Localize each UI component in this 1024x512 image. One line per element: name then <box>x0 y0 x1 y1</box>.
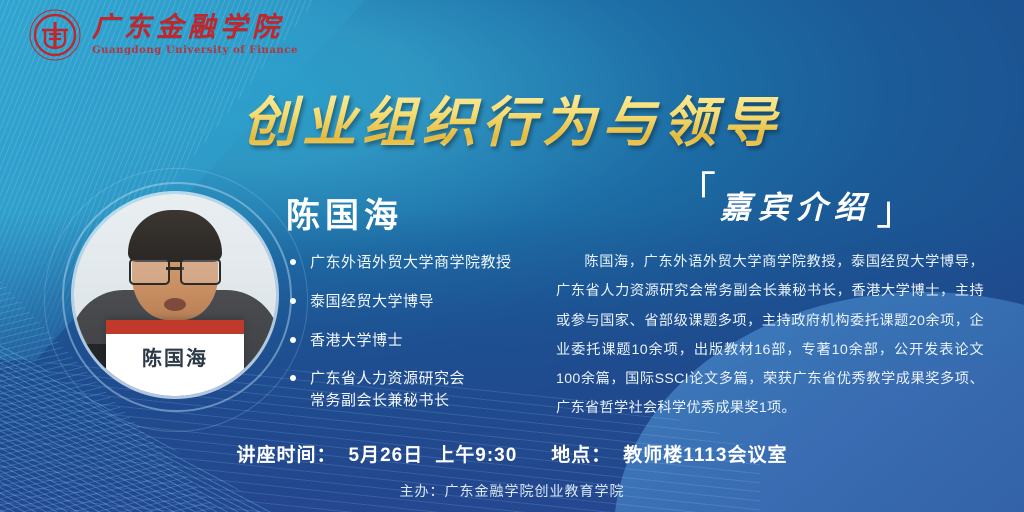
guest-intro-heading: 「 嘉宾介绍 」 <box>676 176 916 227</box>
list-item: 香港大学博士 <box>288 330 558 352</box>
bracket-close-icon: 」 <box>876 195 916 227</box>
host-organization: 主办：广东金融学院创业教育学院 <box>0 481 1024 501</box>
university-name-en: Guangdong University of Finance <box>92 46 298 56</box>
university-logo: 广东金融学院 Guangdong University of Finance <box>28 8 298 62</box>
place-value: 教师楼1113会议室 <box>623 445 787 466</box>
speaker-photo: 陈国海 <box>74 194 276 396</box>
list-item: 泰国经贸大学博导 <box>288 291 558 313</box>
guest-intro-heading-text: 嘉宾介绍 <box>716 176 876 227</box>
photo-nameplate-text: 陈国海 <box>106 342 244 371</box>
list-item: 广东外语外贸大学商学院教授 <box>288 252 558 274</box>
list-item: 广东省人力资源研究会 常务副会长兼秘书长 <box>288 368 558 412</box>
photo-glasses <box>129 258 221 282</box>
university-emblem-icon <box>28 8 82 62</box>
event-poster: 广东金融学院 Guangdong University of Finance 创… <box>0 0 1024 512</box>
speaker-name: 陈国海 <box>286 188 403 237</box>
time-value-date: 5月26日 <box>349 445 424 466</box>
poster-title: 创业组织行为与领导 <box>0 78 1024 157</box>
event-info-line: 讲座时间：5月26日上午9:30地点：教师楼1113会议室 <box>0 440 1024 467</box>
photo-nameplate: 陈国海 <box>106 320 244 396</box>
photo-mouth <box>164 298 186 311</box>
time-value-hour: 上午9:30 <box>435 445 517 466</box>
guest-bio-paragraph: 陈国海，广东外语外贸大学商学院教授，泰国经贸大学博导，广东省人力资源研究会常务副… <box>556 248 984 424</box>
university-logo-text: 广东金融学院 Guangdong University of Finance <box>92 14 298 56</box>
speaker-photo-image: 陈国海 <box>74 194 276 396</box>
bracket-open-icon: 「 <box>676 176 716 208</box>
speaker-credentials-list: 广东外语外贸大学商学院教授 泰国经贸大学博导 香港大学博士 广东省人力资源研究会… <box>288 252 558 429</box>
time-label: 讲座时间： <box>237 445 337 466</box>
university-name-cn: 广东金融学院 <box>92 14 298 41</box>
place-label: 地点： <box>551 445 611 466</box>
